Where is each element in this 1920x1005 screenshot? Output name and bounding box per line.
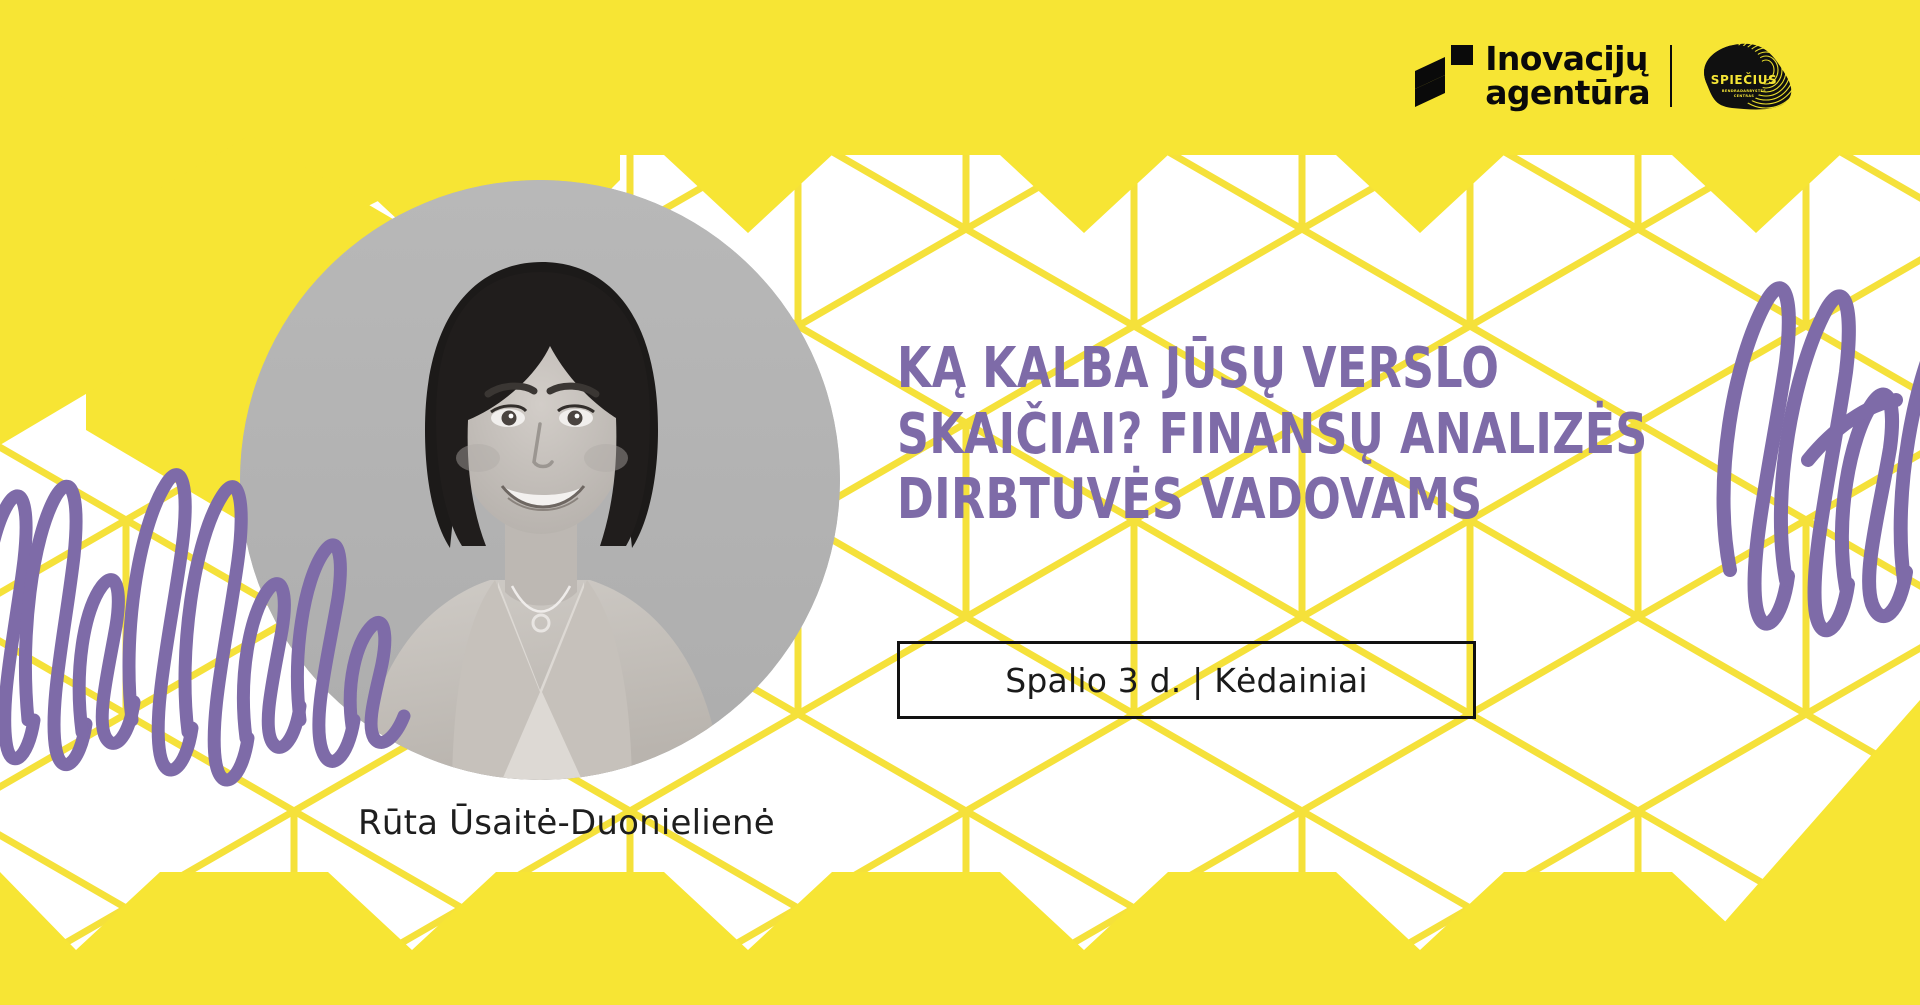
logo-wordmark: Inovacijų agentūra bbox=[1485, 42, 1650, 109]
logo-word-line1: Inovacijų bbox=[1485, 42, 1650, 76]
speaker-name: Rūta Ūsaitė-Duonielienė bbox=[358, 803, 775, 843]
headline-line-1: KĄ KALBA JŪSŲ VERSLO bbox=[897, 336, 1592, 402]
avatar bbox=[240, 180, 840, 780]
inovaciju-agentura-logo: Inovacijų agentūra bbox=[1415, 42, 1650, 109]
headline-line-2: SKAIČIAI? FINANSŲ ANALIZĖS bbox=[897, 402, 1592, 468]
spiecius-subtitle-line2: CENTRAS bbox=[1734, 94, 1755, 98]
vertical-divider-icon bbox=[1670, 45, 1672, 107]
spiecius-blob-icon: SPIEČIUS BENDRADARBYSTES CENTRAS bbox=[1692, 38, 1800, 114]
date-location-badge: Spalio 3 d. | Kėdainiai bbox=[897, 641, 1476, 719]
spiecius-subtitle-line1: BENDRADARBYSTES bbox=[1722, 89, 1766, 93]
event-banner: Inovacijų agentūra bbox=[0, 0, 1920, 1005]
inovaciju-agentura-mark-icon bbox=[1415, 45, 1473, 107]
page-title: KĄ KALBA JŪSŲ VERSLO SKAIČIAI? FINANSŲ A… bbox=[897, 336, 1592, 533]
date-location-text: Spalio 3 d. | Kėdainiai bbox=[1005, 661, 1368, 700]
logo-lockup: Inovacijų agentūra bbox=[1415, 38, 1800, 114]
logo-word-line2: agentūra bbox=[1485, 76, 1650, 110]
spiecius-wordmark: SPIEČIUS bbox=[1711, 72, 1778, 87]
headline-line-3: DIRBTUVĖS VADOVAMS bbox=[897, 467, 1592, 533]
